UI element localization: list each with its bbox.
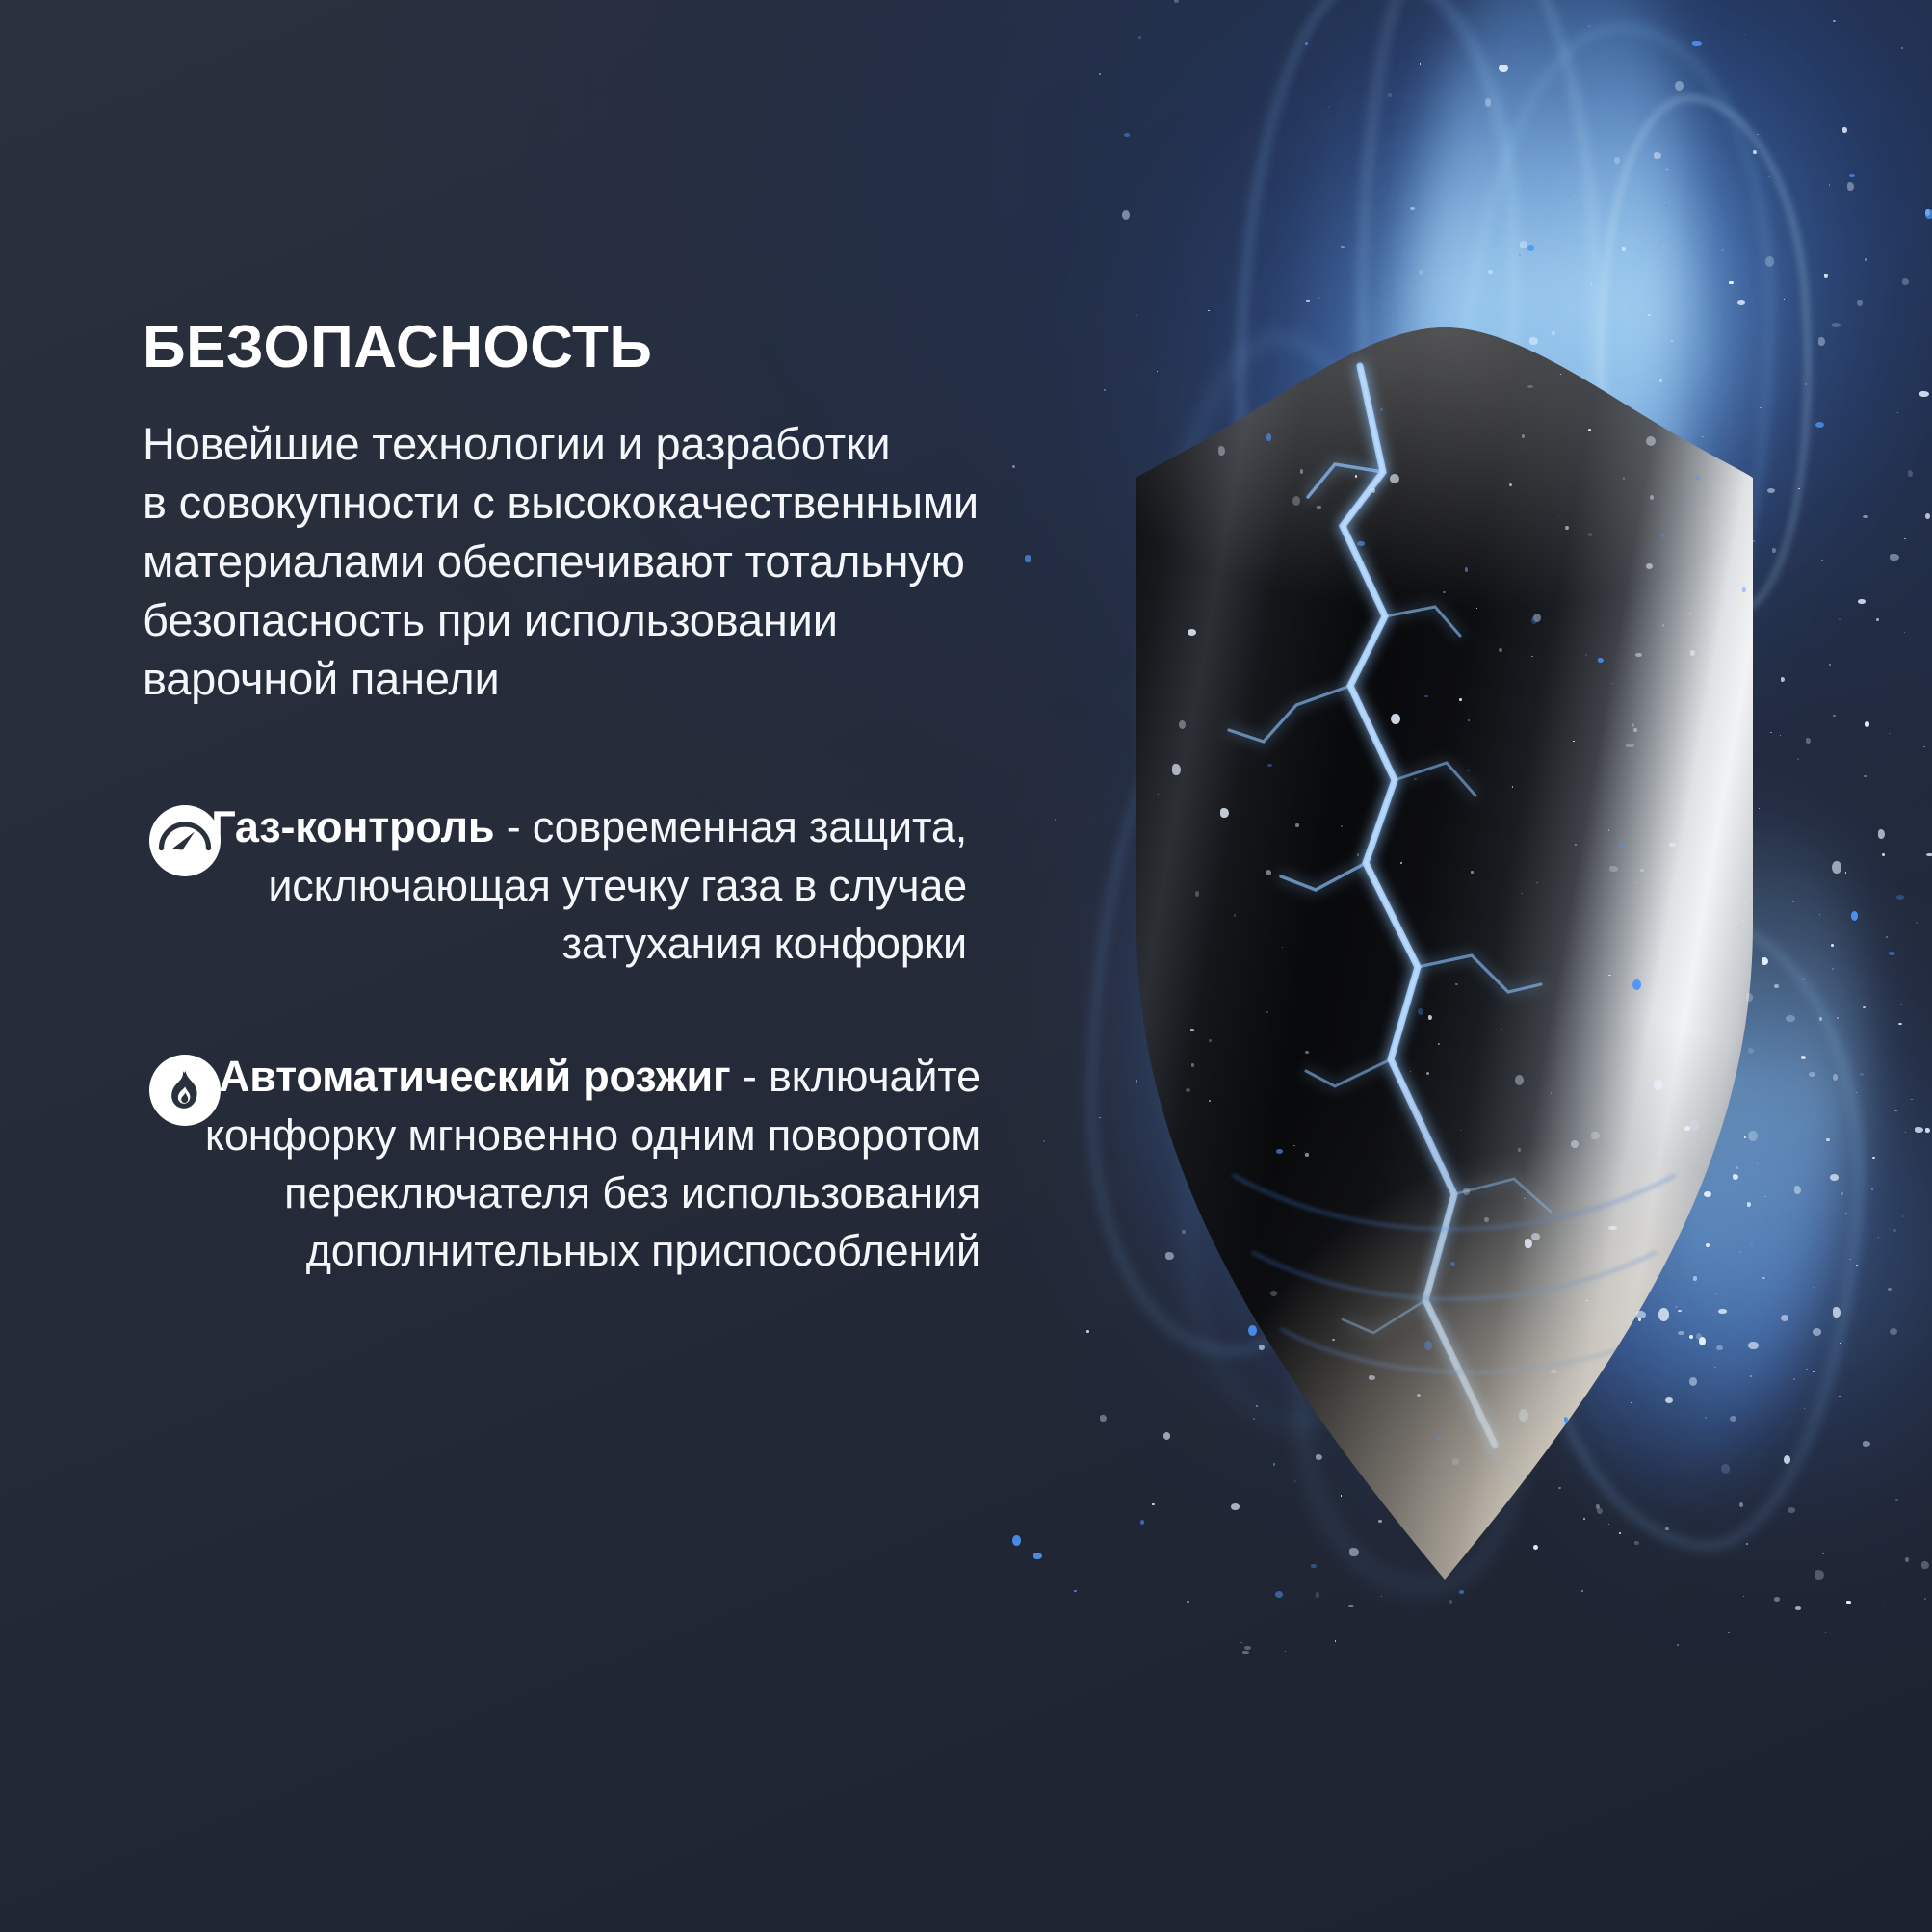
ember-spark bbox=[1459, 698, 1461, 701]
ember-spark bbox=[1781, 1315, 1788, 1321]
ember-spark bbox=[1765, 256, 1774, 266]
ember-spark bbox=[1923, 746, 1925, 748]
ember-spark bbox=[1619, 1532, 1622, 1535]
ember-spark bbox=[1794, 1186, 1801, 1194]
ember-spark bbox=[1742, 587, 1745, 592]
ember-spark bbox=[1608, 1524, 1610, 1525]
ember-spark bbox=[1876, 618, 1879, 622]
ember-spark bbox=[1729, 281, 1734, 285]
ember-spark bbox=[1715, 1293, 1717, 1295]
ember-spark bbox=[1640, 869, 1644, 873]
ember-spark bbox=[1564, 1417, 1569, 1423]
gauge-icon bbox=[148, 804, 222, 877]
ember-spark bbox=[1519, 1409, 1528, 1422]
ember-spark bbox=[1898, 1023, 1902, 1025]
ember-spark bbox=[1815, 1570, 1824, 1580]
ember-spark bbox=[1179, 720, 1187, 729]
ember-spark bbox=[1696, 475, 1700, 481]
ember-spark bbox=[1100, 1415, 1107, 1422]
ember-spark bbox=[1465, 567, 1469, 572]
ember-spark bbox=[1559, 516, 1561, 517]
ember-spark bbox=[1884, 1603, 1886, 1604]
ember-spark bbox=[1889, 733, 1891, 734]
ember-spark bbox=[1793, 1378, 1795, 1380]
ember-spark bbox=[1689, 1335, 1693, 1339]
ember-spark bbox=[1187, 1601, 1189, 1604]
ember-spark bbox=[1744, 1136, 1746, 1137]
ember-spark bbox=[1669, 843, 1676, 847]
ember-spark bbox=[1558, 1487, 1561, 1489]
ember-spark bbox=[1889, 952, 1896, 955]
ember-spark bbox=[1857, 300, 1863, 307]
ember-spark bbox=[1774, 1597, 1780, 1601]
ember-spark bbox=[1305, 1051, 1309, 1054]
ember-spark bbox=[1391, 714, 1400, 724]
ember-spark bbox=[1182, 1230, 1186, 1235]
ember-spark bbox=[1824, 274, 1829, 279]
ember-spark bbox=[1208, 310, 1210, 312]
ember-spark bbox=[1282, 947, 1284, 948]
ember-spark bbox=[1905, 1557, 1909, 1562]
ember-spark bbox=[1865, 258, 1868, 261]
ember-spark bbox=[1174, 0, 1179, 3]
ember-spark bbox=[1585, 654, 1587, 656]
ember-spark bbox=[1410, 207, 1415, 210]
ember-spark bbox=[1714, 1367, 1716, 1368]
ember-spark bbox=[1675, 81, 1684, 91]
ember-spark bbox=[1665, 1527, 1669, 1530]
ember-spark bbox=[1659, 379, 1662, 382]
ember-spark bbox=[1911, 1099, 1913, 1100]
ember-spark bbox=[1739, 1502, 1743, 1508]
ember-spark bbox=[1294, 1480, 1296, 1482]
ember-spark bbox=[1908, 953, 1910, 953]
ember-spark bbox=[1825, 1632, 1827, 1633]
ember-spark bbox=[1140, 1520, 1145, 1525]
ember-spark bbox=[1803, 989, 1805, 991]
ember-spark bbox=[1878, 1237, 1880, 1238]
ember-spark bbox=[1388, 93, 1392, 98]
ember-spark bbox=[1499, 648, 1502, 652]
ember-spark bbox=[1698, 921, 1700, 922]
ember-spark bbox=[1305, 1153, 1309, 1157]
ember-spark bbox=[1704, 954, 1708, 958]
ember-spark bbox=[1753, 150, 1757, 154]
ember-spark bbox=[1598, 658, 1605, 663]
ember-spark bbox=[1895, 1499, 1897, 1501]
ember-spark bbox=[1845, 872, 1847, 873]
ember-spark bbox=[1152, 1503, 1155, 1506]
ember-spark bbox=[1316, 1592, 1320, 1598]
ember-spark bbox=[1548, 1300, 1552, 1303]
ember-spark bbox=[1797, 758, 1799, 760]
ember-spark bbox=[1690, 1120, 1699, 1132]
ember-spark bbox=[1623, 1070, 1625, 1072]
ember-spark bbox=[1186, 1088, 1190, 1092]
ember-spark bbox=[1904, 632, 1906, 633]
ember-spark bbox=[1897, 412, 1899, 413]
ember-spark bbox=[1124, 133, 1130, 137]
ember-spark bbox=[1565, 526, 1569, 531]
ember-spark bbox=[1890, 1328, 1897, 1335]
ember-spark bbox=[1632, 979, 1641, 990]
ember-spark bbox=[1768, 176, 1770, 177]
ember-spark bbox=[1136, 314, 1137, 316]
feature-text: Газ-контроль - современная защита, исклю… bbox=[143, 798, 967, 973]
ember-spark bbox=[1633, 728, 1637, 733]
ember-spark bbox=[1813, 1328, 1821, 1336]
ember-spark bbox=[1739, 1251, 1742, 1254]
ember-spark bbox=[1551, 1370, 1557, 1374]
ember-spark bbox=[1805, 383, 1807, 385]
ember-spark bbox=[1529, 337, 1538, 345]
ember-spark bbox=[1886, 936, 1888, 939]
ember-spark bbox=[1860, 1073, 1864, 1075]
ember-spark bbox=[1311, 1564, 1317, 1568]
ember-spark bbox=[1717, 556, 1719, 558]
ember-spark bbox=[1634, 1541, 1639, 1545]
feature-separator: - bbox=[494, 802, 532, 851]
ember-spark bbox=[1684, 1126, 1691, 1131]
ember-spark bbox=[1826, 1138, 1830, 1141]
ember-spark bbox=[1818, 337, 1825, 346]
ember-spark bbox=[1608, 975, 1611, 977]
ember-spark bbox=[1591, 1132, 1599, 1138]
ember-spark bbox=[1596, 1504, 1600, 1508]
ember-spark bbox=[1611, 683, 1613, 685]
ember-spark bbox=[1270, 1291, 1277, 1296]
ember-spark bbox=[1772, 548, 1775, 553]
ember-spark bbox=[1509, 483, 1512, 486]
ember-spark bbox=[1925, 513, 1931, 519]
ember-spark bbox=[1702, 436, 1704, 437]
ember-spark bbox=[1335, 1640, 1337, 1642]
ember-spark bbox=[1665, 1397, 1673, 1404]
ember-spark bbox=[1341, 1495, 1343, 1497]
ember-spark bbox=[1746, 1543, 1748, 1546]
ember-spark bbox=[1784, 1455, 1790, 1464]
page-title: БЕЗОПАСНОСТЬ bbox=[143, 318, 1125, 378]
ember-spark bbox=[1829, 664, 1831, 666]
ember-spark bbox=[1424, 1341, 1432, 1349]
ember-spark bbox=[1646, 436, 1656, 447]
ember-spark bbox=[1819, 1017, 1822, 1021]
ember-spark bbox=[1809, 1072, 1815, 1077]
ember-spark bbox=[1631, 1402, 1633, 1404]
ember-spark bbox=[1750, 1241, 1754, 1246]
ember-spark bbox=[1760, 407, 1762, 408]
ember-spark bbox=[1285, 1651, 1287, 1652]
ember-spark bbox=[1460, 1130, 1462, 1131]
ember-spark bbox=[1292, 88, 1293, 89]
ember-spark bbox=[1830, 1174, 1839, 1182]
ember-spark bbox=[1632, 723, 1634, 727]
ember-spark bbox=[1925, 209, 1932, 219]
ember-spark bbox=[1583, 1518, 1586, 1520]
ember-spark bbox=[1905, 1132, 1907, 1133]
ember-spark bbox=[1829, 184, 1831, 186]
ember-spark bbox=[1581, 1590, 1583, 1592]
ember-spark bbox=[1730, 1416, 1736, 1422]
ember-spark bbox=[1806, 1369, 1809, 1371]
ember-spark bbox=[1619, 843, 1623, 847]
ember-spark bbox=[1531, 616, 1537, 624]
ember-spark bbox=[1832, 968, 1834, 970]
ember-spark bbox=[1209, 1039, 1213, 1042]
ember-spark bbox=[1872, 1157, 1875, 1159]
ember-spark bbox=[1305, 42, 1308, 45]
ember-spark bbox=[1762, 1277, 1765, 1279]
ember-spark bbox=[1851, 911, 1859, 921]
ember-spark bbox=[1012, 1535, 1021, 1546]
ember-spark bbox=[1849, 174, 1855, 177]
ember-spark bbox=[1832, 323, 1841, 327]
ember-spark bbox=[1378, 886, 1381, 889]
ember-spark bbox=[1737, 300, 1745, 305]
ember-spark bbox=[1767, 488, 1776, 493]
ember-spark bbox=[1893, 1229, 1896, 1232]
ember-spark bbox=[1748, 1342, 1758, 1349]
ember-spark bbox=[1815, 422, 1824, 428]
ember-spark bbox=[1419, 270, 1423, 275]
ember-spark bbox=[1692, 41, 1702, 46]
ember-spark bbox=[1484, 1217, 1489, 1222]
ember-spark bbox=[1654, 1080, 1663, 1089]
ember-spark bbox=[1452, 1458, 1459, 1466]
ember-spark bbox=[1750, 1375, 1752, 1377]
ember-spark bbox=[1726, 599, 1736, 607]
ember-spark bbox=[1568, 195, 1572, 196]
ember-spark bbox=[1381, 1596, 1383, 1597]
ember-spark bbox=[1690, 650, 1696, 656]
ember-spark bbox=[1806, 738, 1811, 744]
ember-spark bbox=[1485, 98, 1491, 106]
ember-spark bbox=[1795, 1606, 1801, 1610]
ember-spark bbox=[1746, 993, 1753, 1002]
ember-spark bbox=[1424, 695, 1428, 698]
ember-spark bbox=[1518, 1148, 1521, 1152]
ember-spark bbox=[1856, 1265, 1858, 1266]
ember-spark bbox=[1646, 563, 1653, 569]
ember-spark bbox=[1292, 496, 1300, 506]
ember-spark bbox=[1900, 1004, 1902, 1005]
ember-spark bbox=[1231, 1503, 1240, 1510]
ember-spark bbox=[1841, 1192, 1843, 1195]
ember-spark bbox=[1266, 1011, 1269, 1013]
ember-spark bbox=[1608, 829, 1610, 831]
ember-spark bbox=[1316, 1454, 1322, 1460]
ember-spark bbox=[1926, 853, 1932, 857]
ember-spark bbox=[1762, 957, 1769, 965]
ember-spark bbox=[1757, 134, 1759, 135]
ember-spark bbox=[1218, 446, 1225, 456]
ember-spark bbox=[1792, 901, 1794, 902]
ember-spark bbox=[1551, 1092, 1553, 1094]
ember-spark bbox=[1705, 1417, 1707, 1419]
ember-spark bbox=[1471, 871, 1473, 873]
ember-spark bbox=[1902, 278, 1909, 285]
ember-spark bbox=[1608, 1226, 1617, 1231]
ember-spark bbox=[1348, 1605, 1354, 1607]
ember-spark bbox=[1801, 978, 1806, 980]
ember-spark bbox=[1635, 882, 1637, 883]
ember-spark bbox=[1919, 391, 1929, 397]
ember-spark bbox=[1839, 618, 1841, 620]
ember-spark bbox=[1661, 534, 1664, 537]
ember-spark bbox=[1328, 106, 1330, 108]
ember-spark bbox=[1678, 1310, 1682, 1313]
ember-spark bbox=[1515, 1075, 1525, 1085]
ember-spark bbox=[1798, 488, 1800, 489]
ember-spark bbox=[1357, 541, 1365, 546]
ember-spark bbox=[1300, 469, 1303, 474]
ember-spark bbox=[1371, 488, 1376, 493]
ember-spark bbox=[1748, 1048, 1755, 1054]
ember-spark bbox=[1349, 1548, 1359, 1556]
ember-spark bbox=[1636, 1311, 1646, 1318]
ember-spark bbox=[1248, 1325, 1257, 1336]
poster-canvas: БЕЗОПАСНОСТЬ Новейшие технологии и разра… bbox=[0, 0, 1932, 1932]
ember-spark bbox=[1575, 844, 1577, 846]
ember-spark bbox=[1332, 1339, 1335, 1341]
ember-spark bbox=[1743, 920, 1745, 921]
ember-spark bbox=[1676, 1085, 1678, 1087]
ember-spark bbox=[1420, 63, 1422, 65]
ember-spark bbox=[1817, 744, 1819, 744]
ember-spark bbox=[1888, 1288, 1892, 1291]
ember-spark bbox=[1190, 1029, 1195, 1031]
ember-spark bbox=[1074, 1590, 1077, 1592]
ember-spark bbox=[1560, 374, 1562, 375]
ember-spark bbox=[1209, 1100, 1212, 1103]
ember-spark bbox=[1417, 1394, 1421, 1397]
ember-spark bbox=[1623, 477, 1625, 480]
ember-spark bbox=[1833, 1307, 1841, 1318]
ember-spark bbox=[1774, 984, 1779, 988]
ember-spark bbox=[1450, 1262, 1455, 1266]
ember-spark bbox=[1748, 1131, 1758, 1141]
ember-spark bbox=[1195, 891, 1199, 896]
ember-spark bbox=[1357, 853, 1360, 856]
ember-spark bbox=[1831, 944, 1834, 947]
ember-spark bbox=[1654, 152, 1662, 159]
ember-spark bbox=[1821, 560, 1823, 561]
feature-term: Газ-контроль bbox=[211, 802, 494, 851]
ember-spark bbox=[1410, 1071, 1412, 1073]
ember-spark bbox=[1512, 786, 1514, 788]
ember-spark bbox=[1463, 1188, 1470, 1195]
ember-spark bbox=[1266, 555, 1267, 557]
ember-spark bbox=[1459, 1590, 1464, 1594]
ember-spark bbox=[1925, 1128, 1930, 1133]
ember-spark bbox=[1916, 922, 1918, 924]
ember-spark bbox=[1662, 246, 1664, 247]
ember-spark bbox=[1157, 371, 1159, 372]
ember-spark bbox=[1832, 861, 1841, 875]
ember-spark bbox=[1666, 169, 1668, 170]
ember-spark bbox=[1678, 1331, 1684, 1336]
ember-spark bbox=[1136, 1080, 1138, 1083]
ember-spark bbox=[1436, 1436, 1442, 1440]
ember-spark bbox=[1276, 1149, 1283, 1154]
ember-spark bbox=[1728, 1632, 1730, 1633]
ember-spark bbox=[1781, 677, 1786, 682]
ember-spark bbox=[1378, 1520, 1382, 1524]
ember-spark bbox=[1522, 434, 1526, 438]
ember-spark bbox=[1858, 599, 1866, 604]
ember-spark bbox=[1695, 1036, 1697, 1038]
ember-spark bbox=[1671, 340, 1673, 342]
ember-spark bbox=[1864, 775, 1867, 777]
ember-spark bbox=[1833, 20, 1835, 21]
ember-spark bbox=[1706, 1243, 1710, 1248]
ember-spark bbox=[1699, 1337, 1706, 1345]
ember-spark bbox=[1752, 540, 1755, 543]
ember-spark bbox=[1863, 1006, 1865, 1008]
ember-spark bbox=[1467, 770, 1470, 772]
ember-spark bbox=[1275, 1591, 1283, 1598]
ember-spark bbox=[1650, 495, 1654, 500]
ember-spark bbox=[1840, 1343, 1841, 1344]
ember-spark bbox=[1341, 246, 1345, 248]
feature-gas-control: Газ-контроль - современная защита, исклю… bbox=[143, 798, 1125, 973]
ember-spark bbox=[1902, 1215, 1904, 1217]
ember-spark bbox=[1524, 1198, 1526, 1199]
ember-spark bbox=[1454, 1501, 1456, 1503]
ember-spark bbox=[1527, 245, 1534, 250]
ember-spark bbox=[1501, 1029, 1502, 1030]
ember-spark bbox=[1635, 653, 1642, 657]
ember-spark bbox=[1531, 1233, 1540, 1240]
ember-spark bbox=[1701, 918, 1703, 920]
ember-spark bbox=[1757, 1162, 1759, 1164]
ember-spark bbox=[1721, 249, 1724, 251]
ember-spark bbox=[1588, 429, 1591, 431]
ember-spark bbox=[1449, 1600, 1452, 1603]
ember-spark bbox=[1626, 744, 1634, 748]
ember-spark bbox=[1882, 853, 1885, 856]
intro-paragraph: Новейшие технологии и разработки в совок… bbox=[143, 414, 1125, 708]
text-column: БЕЗОПАСНОСТЬ Новейшие технологии и разра… bbox=[143, 318, 1125, 1356]
ember-spark bbox=[1591, 283, 1593, 285]
ember-spark bbox=[1443, 591, 1446, 593]
ember-spark bbox=[1163, 1432, 1170, 1440]
ember-spark bbox=[1581, 1322, 1583, 1323]
ember-spark bbox=[1839, 1396, 1841, 1397]
ember-spark bbox=[1531, 656, 1533, 658]
ember-spark bbox=[1743, 1596, 1745, 1597]
ember-spark bbox=[1521, 893, 1523, 894]
ember-spark bbox=[1099, 73, 1101, 74]
ember-spark bbox=[1894, 1110, 1897, 1111]
ember-spark bbox=[1736, 1166, 1738, 1169]
ember-spark bbox=[1733, 1174, 1738, 1179]
ember-spark bbox=[1833, 1074, 1838, 1081]
ember-spark bbox=[1614, 157, 1620, 164]
ember-spark bbox=[1657, 1151, 1664, 1157]
ember-spark bbox=[1896, 895, 1904, 900]
ember-spark bbox=[1400, 862, 1403, 865]
flame-icon bbox=[148, 1054, 222, 1127]
ember-spark bbox=[1468, 719, 1471, 721]
ember-spark bbox=[1908, 470, 1913, 477]
ember-spark bbox=[1525, 1239, 1532, 1249]
ember-spark bbox=[1689, 1377, 1698, 1386]
ember-spark bbox=[1609, 866, 1619, 873]
ember-spark bbox=[1519, 254, 1521, 256]
ember-spark bbox=[1488, 270, 1492, 274]
ember-spark bbox=[1622, 247, 1627, 251]
